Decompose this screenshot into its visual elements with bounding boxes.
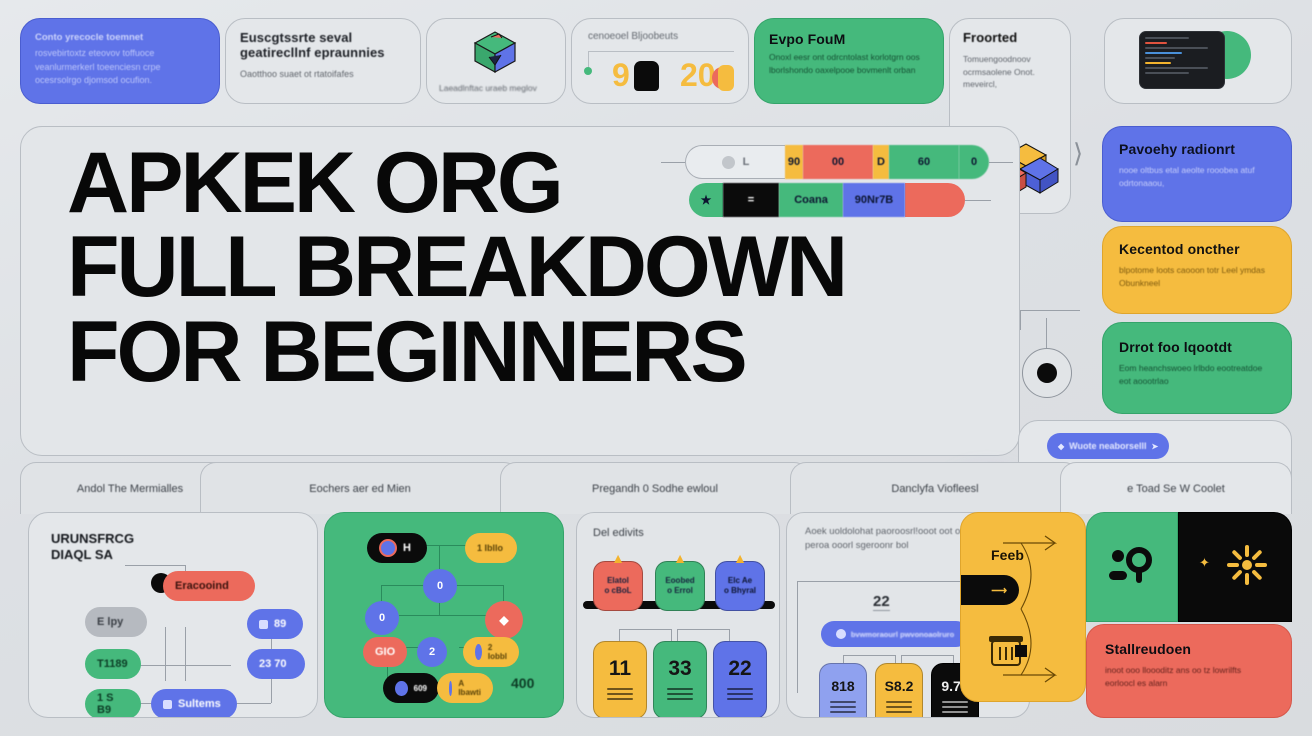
node-dot[interactable]: [1022, 348, 1072, 398]
badge-card-1[interactable]: ▲ Eoobed o Errol: [655, 561, 705, 611]
gp-node-609[interactable]: 609: [383, 673, 439, 703]
stat-blob-c: [718, 65, 734, 91]
right-card-blue-heading: Pavoehy radionrt: [1119, 141, 1275, 157]
stat-blob-a: [634, 61, 659, 91]
stats-chip-icon: [836, 629, 846, 639]
right-card-blue-body: nooe oltbus etal aeolte rooobea atuf odr…: [1119, 164, 1275, 190]
number-card-0[interactable]: 11: [593, 641, 647, 718]
abstract-person-search-icon: [1107, 547, 1155, 587]
flow-line-c: [165, 627, 166, 681]
tab-2[interactable]: Pregandh 0 Sodhe ewloul: [500, 462, 810, 514]
gp-node-left[interactable]: 0: [365, 601, 399, 635]
badge-card-0-line1: Elatol: [607, 576, 629, 585]
badge-card-2[interactable]: ▲ Elc Ae o Bhyral: [715, 561, 765, 611]
gp-node-center[interactable]: 0: [423, 569, 457, 603]
bottom-green-panel: H 1 Ibllo 0 0 ◆ GIO 2 2 Iobbl 609 A: [324, 512, 564, 718]
flow-pill-eracooind[interactable]: Eracooind: [163, 571, 255, 601]
top-card-green-body: Onoxl eesr ont odrcntolast korlotgrn oos…: [769, 51, 929, 77]
gp-node-right[interactable]: ◆: [485, 601, 523, 639]
tab-0-label: Andol The Mermialles: [77, 483, 183, 495]
stat-marker-dot: [584, 67, 592, 75]
crown-icon-2: ▲: [733, 549, 747, 567]
top-card-widget[interactable]: [1104, 18, 1292, 104]
gp-node-2iobbl-dot: [475, 644, 482, 660]
number-card-0-value: 11: [609, 657, 631, 681]
segment-bar-1[interactable]: L 90 00 D 60 0: [661, 145, 1013, 179]
flow-pill-elpy-label: E lpy: [97, 616, 123, 628]
top-card-stat-value-b: 20: [680, 57, 716, 94]
segment-2-tail: [905, 183, 965, 217]
dashboard-mock-icon: [1139, 31, 1225, 89]
gp-node-h-label: H: [403, 542, 411, 554]
bottom-stats-chip[interactable]: bvwmoraourl pwvonoaolruro: [821, 621, 969, 647]
flow-pill-89-label: 89: [274, 618, 286, 630]
segment-2-label-3: 90Nr7B: [843, 183, 905, 217]
stats-number-card-1-lines: [886, 701, 912, 716]
chip-left-icon: ◆: [1058, 442, 1064, 451]
top-card-tagline[interactable]: Euscgtssrte seval geatirecllnf epraunnie…: [225, 18, 421, 104]
gp-node-left-label: 0: [379, 612, 385, 624]
bottom-left-panel: URUNSFRCG DIAQL SA Eracooind E lpy 89 T1…: [28, 512, 318, 718]
tab-4-label: e Toad Se W Coolet: [1127, 483, 1225, 495]
starburst-icon: [1227, 545, 1267, 585]
top-card-green[interactable]: Evpo FouM Onoxl eesr ont odrcntolast kor…: [754, 18, 944, 104]
gp-node-609-dot: [395, 681, 408, 696]
segment-dot-icon: [722, 156, 735, 169]
bottom-feed-panel: Feeb ⟶: [960, 512, 1086, 702]
right-footer-chip-label: Wuote neaborselll: [1069, 441, 1146, 451]
segment-1-label-2: 00: [803, 145, 873, 179]
bottom-red-card[interactable]: Stallreudoen inoot ooo lloooditz ans oo …: [1086, 624, 1292, 718]
gp-node-center-label: 0: [437, 580, 443, 592]
top-card-cube[interactable]: Laeadlnftac uraeb meglov: [426, 18, 566, 104]
arrow-right-icon: ⟶: [991, 584, 1007, 597]
flow-pill-1sb9-label: 1 S B9: [97, 692, 129, 716]
bottom-red-card-body: inoot ooo lloooditz ans oo tz lowrilfts …: [1105, 664, 1273, 690]
hero-panel: APKEK ORG FULL BREAKDOWN FOR BEGINNERS L…: [20, 126, 1020, 456]
top-card-frooted-heading: Froorted: [963, 31, 1057, 46]
num-bracket-5: [677, 629, 678, 641]
sparkle-small-icon: ✦: [1199, 555, 1210, 571]
tab-3[interactable]: Danclyfa Viofleesl: [790, 462, 1080, 514]
stats-number-card-1[interactable]: S8.2: [875, 663, 923, 718]
gp-node-609-label: 609: [414, 684, 427, 693]
gp-node-2iobbl-label: 2 Iobbl: [488, 643, 507, 661]
flow-pill-sultems[interactable]: Sultems: [151, 689, 237, 718]
gp-node-h[interactable]: H: [367, 533, 427, 563]
tab-1-label: Eochers aer ed Mien: [309, 483, 411, 495]
top-card-cube-caption: Laeadlnftac uraeb meglov: [439, 82, 537, 95]
top-card-stat-value-a: 9: [612, 57, 630, 94]
bottom-left-heading-line-1: URUNSFRCG: [51, 531, 134, 547]
gp-node-gio-label: GIO: [375, 646, 395, 658]
stats-number-card-1-value: S8.2: [885, 678, 914, 694]
tab-row: Andol The Mermialles Eochers aer ed Mien…: [20, 462, 1292, 514]
bottom-cards-heading: Del edivits: [593, 527, 644, 539]
segment-1-label-3: D: [873, 145, 889, 179]
gp-node-ibllo-label: 1 Ibllo: [477, 543, 503, 553]
top-card-strip: Conto yrecocle toemnet rosvebirtoxtz ete…: [20, 18, 1292, 122]
number-card-1-lines: [667, 688, 693, 703]
number-card-2[interactable]: 22: [713, 641, 767, 718]
chip-right-icon: ➤: [1152, 442, 1159, 451]
top-card-intro[interactable]: Conto yrecocle toemnet rosvebirtoxtz ete…: [20, 18, 220, 104]
bottom-stats-chip-label: bvwmoraourl pwvonoaolruro: [851, 630, 954, 639]
num-bracket-4: [671, 629, 672, 641]
bottom-red-card-heading: Stallreudoen: [1105, 641, 1273, 657]
flow-pill-elpy[interactable]: E lpy: [85, 607, 147, 637]
gp-node-2iobbl[interactable]: 2 Iobbl: [463, 637, 519, 667]
page-title-line-3: FOR BEGINNERS: [67, 310, 997, 394]
gp-node-2-label: 2: [429, 646, 435, 658]
tile-black[interactable]: ✦: [1178, 512, 1292, 622]
flow-line-a: [125, 565, 185, 566]
flow-pill-t1189-label: T1189: [97, 658, 128, 670]
gp-corner-label: 400: [511, 675, 534, 691]
segment-1-label-1: 90: [785, 145, 803, 179]
top-card-tagline-heading: Euscgtssrte seval geatirecllnf epraunnie…: [240, 31, 406, 61]
top-card-stat[interactable]: cenoeoel Bljoobeuts 9 20: [571, 18, 749, 104]
segment-2-icon: ★: [689, 183, 723, 217]
badge-card-2-line1: Elc Ae: [728, 576, 752, 585]
right-card-yellow-heading: Kecentod oncther: [1119, 241, 1275, 257]
tab-1[interactable]: Eochers aer ed Mien: [200, 462, 520, 514]
top-card-intro-body: Conto yrecocle toemnet: [35, 31, 205, 45]
number-card-0-lines: [607, 688, 633, 703]
gp-node-aibawti[interactable]: A Ibawti: [437, 673, 493, 703]
flow-pill-eracooind-label: Eracooind: [175, 580, 229, 592]
number-card-1[interactable]: 33: [653, 641, 707, 718]
isometric-cube-icon: [469, 27, 523, 77]
flow-pill-2370-label: 23 70: [259, 658, 287, 670]
segment-1-label-4: 60: [889, 145, 959, 179]
top-card-frooted-body: Tomuengoodnoov ocrmsaolene Onot. meveirc…: [963, 53, 1057, 91]
right-card-yellow[interactable]: Kecentod oncther blpotome loots caooon t…: [1102, 226, 1292, 314]
num-bracket-6: [729, 629, 730, 641]
pill-sultems-icon: [163, 700, 172, 709]
num-bracket-1: [619, 629, 671, 630]
tab-2-label: Pregandh 0 Sodhe ewloul: [592, 483, 718, 495]
feed-arrow-pill[interactable]: ⟶: [960, 575, 1019, 605]
stats-bracket-1: [843, 655, 895, 656]
segment-2-label-1: =: [723, 183, 779, 217]
flow-pill-t1189[interactable]: T1189: [85, 649, 141, 679]
stats-divider-v: [797, 581, 798, 693]
segment-1-label-5: 0: [959, 145, 989, 179]
tab-4[interactable]: e Toad Se W Coolet: [1060, 462, 1292, 514]
bottom-left-heading: URUNSFRCG DIAQL SA: [51, 531, 134, 564]
flow-pill-89[interactable]: 89: [247, 609, 303, 639]
badge-card-1-line1: Eoobed: [665, 576, 694, 585]
number-card-1-value: 33: [668, 657, 691, 681]
segment-bar-2[interactable]: ★ = Coana 90Nr7B: [689, 183, 991, 217]
gp-line-1: [421, 545, 471, 546]
pill-89-icon: [259, 620, 268, 629]
stats-number-card-0-lines: [830, 701, 856, 716]
diamond-icon: ◆: [499, 613, 508, 627]
chevron-right-icon: ⟩: [1073, 138, 1083, 169]
flow-pill-2370[interactable]: 23 70: [247, 649, 305, 679]
num-bracket-3: [619, 629, 620, 641]
gp-node-gio[interactable]: GIO: [363, 637, 407, 667]
flow-line-d: [185, 627, 186, 681]
flow-line-h: [231, 703, 271, 704]
right-card-green-body: Eom heanchswoeo lrlbdo eootreatdoe eot a…: [1119, 362, 1275, 388]
top-card-stat-heading: cenoeoel Bljoobeuts: [588, 29, 678, 44]
feed-arrow-icons: [1001, 525, 1071, 695]
poster-canvas: Conto yrecocle toemnet rosvebirtoxtz ete…: [0, 0, 1312, 736]
stats-number-card-2-lines: [942, 701, 968, 716]
top-card-green-heading: Evpo FouM: [769, 31, 929, 47]
crown-icon-1: ▲: [673, 549, 687, 567]
badge-card-0-line2: o cBoL: [604, 586, 631, 595]
tab-3-label: Danclyfa Viofleesl: [891, 483, 978, 495]
badge-card-2-line2: o Bhyral: [724, 586, 756, 595]
right-card-blue[interactable]: Pavoehy radionrt nooe oltbus etal aeolte…: [1102, 126, 1292, 222]
bottom-cards-panel: Del edivits ▲ Elatol o cBoL ▲ Eoobed o E…: [576, 512, 780, 718]
gp-node-2[interactable]: 2: [417, 637, 447, 667]
page-title-line-2: FULL BREAKDOWN: [67, 225, 997, 309]
gp-node-aibawti-label: A Ibawti: [458, 679, 481, 697]
top-card-tagline-body: Oaotthoo suaet ot rtatoifafes: [240, 68, 406, 82]
stats-number-card-0[interactable]: 818: [819, 663, 867, 718]
stats-bracket-2: [901, 655, 953, 656]
stats-number-card-0-value: 818: [831, 678, 854, 694]
tile-green[interactable]: [1086, 512, 1178, 622]
right-card-green-heading: Drrot foo lqootdt: [1119, 339, 1275, 355]
right-card-yellow-body: blpotome loots caooon totr Leel ymdas Ob…: [1119, 264, 1275, 290]
segment-1-label-0: L: [743, 156, 750, 168]
gp-node-aibawti-dot: [449, 681, 452, 696]
hero-connector-vline: [1020, 310, 1021, 330]
badge-card-1-line2: o Errol: [667, 586, 693, 595]
hero-connector-line: [1020, 310, 1080, 311]
flow-pill-sultems-label: Sultems: [178, 698, 221, 710]
node-connector-line: [1046, 318, 1047, 350]
num-bracket-2: [677, 629, 729, 630]
gp-node-ibllo[interactable]: 1 Ibllo: [465, 533, 517, 563]
number-card-2-lines: [727, 688, 753, 703]
bottom-left-heading-line-2: DIAQL SA: [51, 547, 134, 563]
crown-icon-0: ▲: [611, 549, 625, 567]
right-footer-chip[interactable]: ◆ Wuote neaborselll ➤: [1047, 433, 1169, 459]
flow-pill-1sb9[interactable]: 1 S B9: [85, 689, 141, 718]
segment-2-label-2: Coana: [779, 183, 843, 217]
right-card-green[interactable]: Drrot foo lqootdt Eom heanchswoeo lrlbdo…: [1102, 322, 1292, 414]
gp-node-h-avatar: [379, 539, 397, 557]
bottom-stats-stat: 22: [873, 593, 890, 611]
badge-card-0[interactable]: ▲ Elatol o cBoL: [593, 561, 643, 611]
stats-divider: [797, 581, 973, 582]
number-card-2-value: 22: [728, 657, 751, 681]
top-card-intro-sub: rosvebirtoxtz eteovov toffuoce veanlurme…: [35, 47, 205, 88]
